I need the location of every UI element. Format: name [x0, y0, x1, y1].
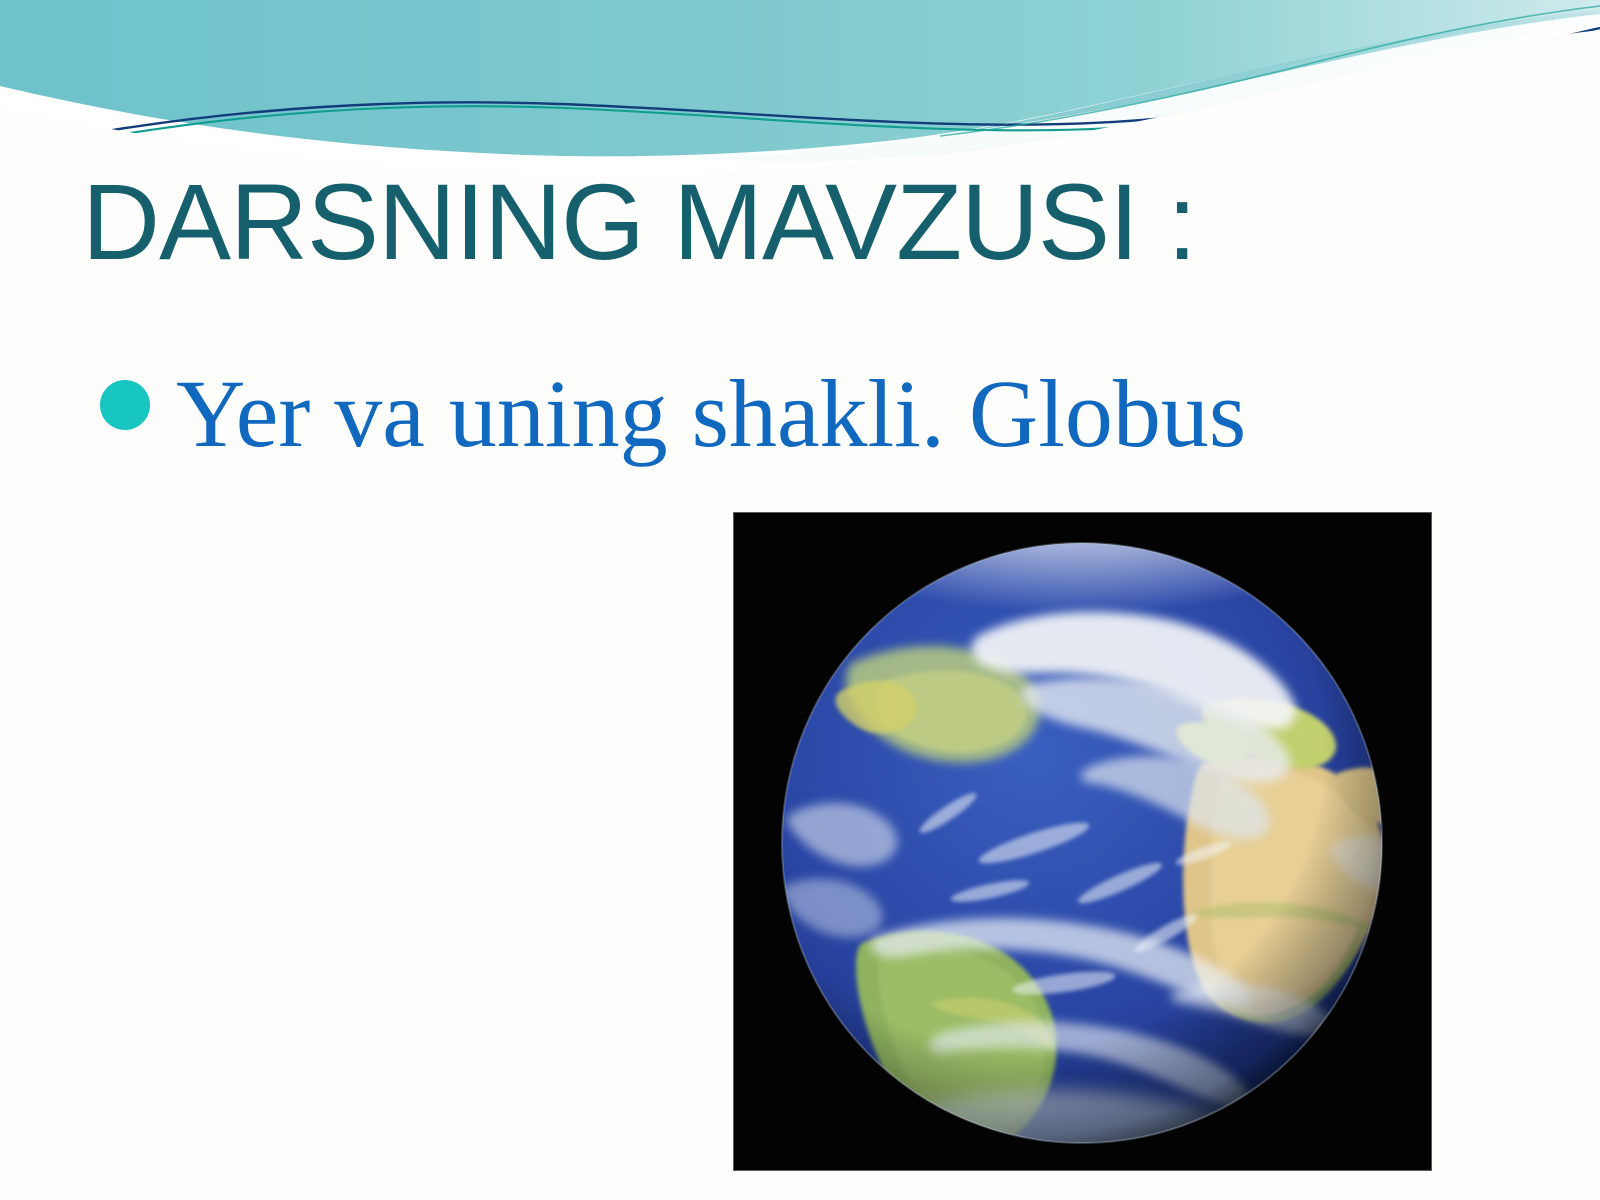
- globe-limb-shading: [782, 543, 1382, 1143]
- wave-base-fill: [0, 30, 1600, 175]
- wave-band-secondary: [690, 10, 1600, 161]
- wave-band-primary: [0, 0, 1600, 157]
- list-item: Yer va uning shakli. Globus: [100, 348, 1390, 480]
- bullet-dot-icon: [100, 380, 150, 430]
- wave-line-teal: [0, 32, 1600, 156]
- wave-line-navy: [0, 28, 1600, 150]
- earth-globe-photo: [734, 513, 1431, 1170]
- presentation-slide: DARSNING MAVZUSI : Yer va uning shakli. …: [0, 0, 1600, 1200]
- wave-line-teal-upper: [940, 6, 1600, 136]
- page-title: DARSNING MAVZUSI :: [82, 168, 1482, 276]
- list-item-label: Yer va uning shakli. Globus: [176, 348, 1246, 480]
- wave-highlight-ribbon: [0, 14, 1600, 175]
- bullet-list: Yer va uning shakli. Globus: [100, 348, 1390, 480]
- wave-banner-decoration: [0, 0, 1600, 175]
